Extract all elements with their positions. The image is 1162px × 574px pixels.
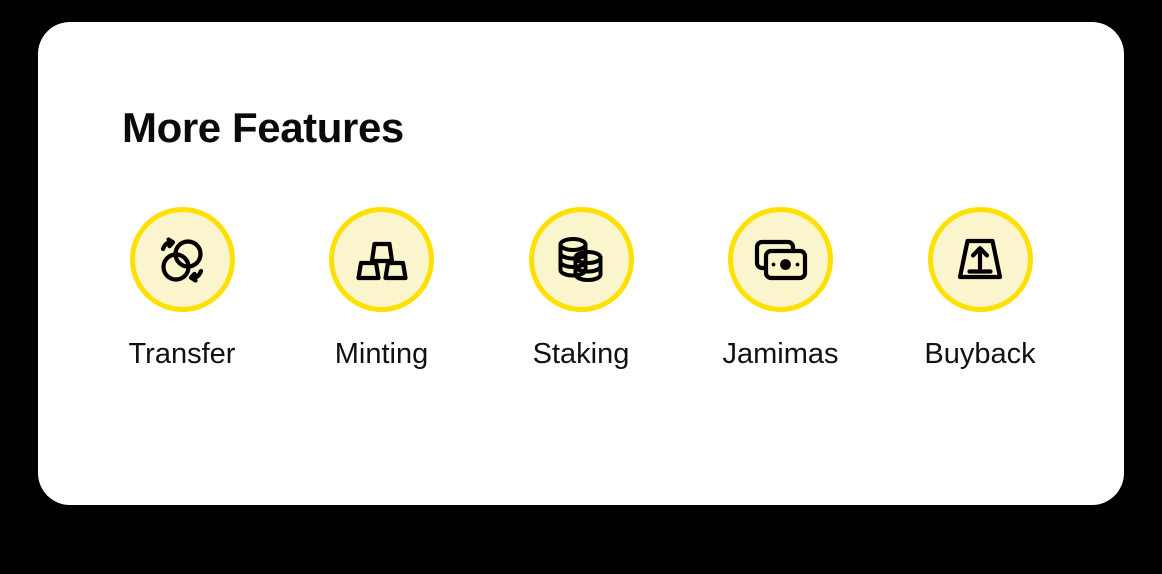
feature-icon-circle[interactable] bbox=[728, 207, 833, 312]
feature-icon-circle[interactable] bbox=[329, 207, 434, 312]
features-row: Transfer Minting bbox=[98, 207, 1064, 371]
feature-item-jamimas[interactable]: Jamimas bbox=[697, 207, 865, 371]
feature-icon-circle[interactable] bbox=[130, 207, 235, 312]
feature-label: Buyback bbox=[924, 338, 1035, 371]
screen-root: More Features T bbox=[0, 0, 1162, 574]
feature-icon-circle[interactable] bbox=[529, 207, 634, 312]
feature-label: Minting bbox=[335, 338, 429, 371]
coin-stacks-icon bbox=[551, 230, 611, 290]
tray-up-arrow-icon bbox=[950, 230, 1010, 290]
page-title: More Features bbox=[122, 104, 404, 152]
transfer-swap-icon bbox=[152, 230, 212, 290]
banknotes-icon bbox=[751, 230, 811, 290]
feature-label: Jamimas bbox=[722, 338, 838, 371]
feature-label: Staking bbox=[533, 338, 630, 371]
feature-item-staking[interactable]: Staking bbox=[497, 207, 665, 371]
feature-label: Transfer bbox=[129, 338, 236, 371]
feature-item-minting[interactable]: Minting bbox=[298, 207, 466, 371]
more-features-card: More Features T bbox=[38, 22, 1124, 505]
gold-bars-icon bbox=[352, 230, 412, 290]
feature-item-transfer[interactable]: Transfer bbox=[98, 207, 266, 371]
feature-icon-circle[interactable] bbox=[928, 207, 1033, 312]
feature-item-buyback[interactable]: Buyback bbox=[896, 207, 1064, 371]
